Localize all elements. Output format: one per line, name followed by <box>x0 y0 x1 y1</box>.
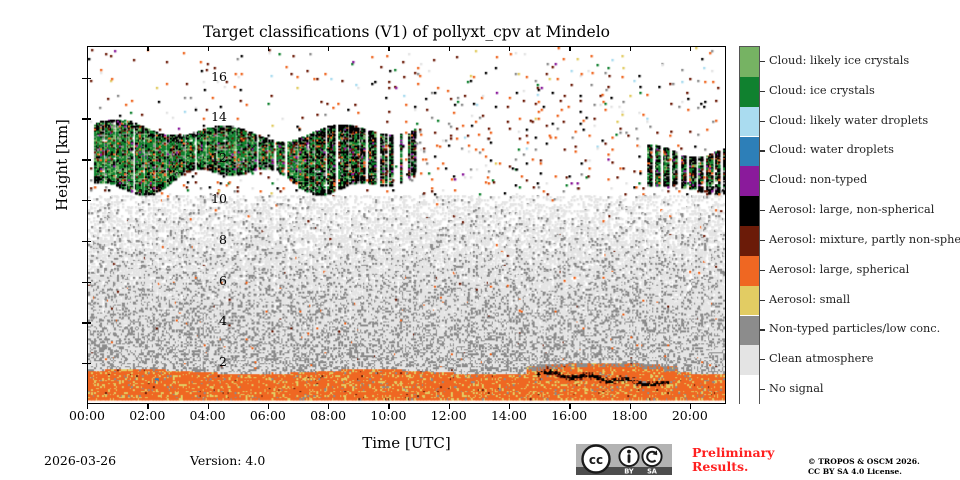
y-tick-label: 2 <box>187 354 227 369</box>
x-tick-label: 06:00 <box>242 408 294 423</box>
y-tick-mark-inner <box>87 200 91 201</box>
x-tick-mark <box>509 404 510 409</box>
x-tick-mark-top <box>87 46 88 51</box>
colorbar-tick <box>760 91 765 92</box>
legend-label: Aerosol: small <box>769 293 850 306</box>
x-tick-label: 14:00 <box>483 408 535 423</box>
preliminary-line-2: Results. <box>692 460 774 474</box>
legend-label: Non-typed particles/low conc. <box>769 322 940 335</box>
cc-license-badge[interactable]: cc BY SA <box>576 444 672 475</box>
x-tick-label: 12:00 <box>423 408 475 423</box>
colorbar-swatch <box>740 47 759 77</box>
x-tick-label: 10:00 <box>362 408 414 423</box>
x-tick-mark <box>630 404 631 409</box>
y-tick-mark-inner <box>87 322 91 323</box>
colorbar-swatch <box>740 256 759 286</box>
preliminary-line-1: Preliminary <box>692 446 774 460</box>
svg-text:cc: cc <box>589 453 603 467</box>
x-tick-mark-top <box>388 46 389 51</box>
x-tick-mark-top <box>208 46 209 51</box>
cc-by-text: BY <box>624 468 634 475</box>
x-tick-label: 04:00 <box>182 408 234 423</box>
footer-version: Version: 4.0 <box>190 453 265 468</box>
colorbar-tick <box>760 359 765 360</box>
x-tick-mark-top <box>449 46 450 51</box>
x-tick-mark-top <box>630 46 631 51</box>
preliminary-results-notice: Preliminary Results. <box>692 446 774 474</box>
page-title: Target classifications (V1) of pollyxt_c… <box>87 23 726 41</box>
y-tick-mark-inner <box>87 363 91 364</box>
colorbar-tick <box>760 61 765 62</box>
y-tick-mark-inner <box>87 78 91 79</box>
colorbar-swatch <box>740 286 759 316</box>
x-tick-mark <box>268 404 269 409</box>
colorbar-tick <box>760 240 765 241</box>
y-tick-mark-inner <box>87 159 91 160</box>
cc-sa-text: SA <box>647 468 658 475</box>
copyright-notice: © TROPOS & OSCM 2026. CC BY SA 4.0 Licen… <box>808 457 920 477</box>
y-tick-label: 12 <box>187 150 227 165</box>
footer-date: 2026-03-26 <box>44 453 116 468</box>
legend-label: Cloud: water droplets <box>769 143 894 156</box>
x-tick-mark-top <box>569 46 570 51</box>
x-tick-mark <box>328 404 329 409</box>
y-tick-label: 4 <box>187 313 227 328</box>
legend-label: Cloud: likely water droplets <box>769 114 928 127</box>
legend-label: Clean atmosphere <box>769 352 873 365</box>
colorbar-tick <box>760 150 765 151</box>
x-tick-mark <box>569 404 570 409</box>
legend-label: Aerosol: large, non-spherical <box>769 203 934 216</box>
x-tick-mark <box>690 404 691 409</box>
x-tick-mark <box>208 404 209 409</box>
y-tick-label: 8 <box>187 232 227 247</box>
y-tick-label: 10 <box>187 191 227 206</box>
x-tick-label: 02:00 <box>121 408 173 423</box>
colorbar-tick <box>760 270 765 271</box>
x-tick-mark-top <box>147 46 148 51</box>
colorbar-swatch <box>740 316 759 346</box>
copyright-line-2: CC BY SA 4.0 License. <box>808 467 920 477</box>
x-tick-label: 20:00 <box>664 408 716 423</box>
colorbar-swatch <box>740 137 759 167</box>
y-tick-mark-inner <box>87 241 91 242</box>
x-tick-mark <box>388 404 389 409</box>
y-tick-mark-inner <box>87 118 91 119</box>
x-tick-label: 16:00 <box>543 408 595 423</box>
legend-label: No signal <box>769 382 824 395</box>
colorbar-tick <box>760 389 765 390</box>
x-tick-mark <box>147 404 148 409</box>
x-tick-mark-top <box>268 46 269 51</box>
x-tick-label: 18:00 <box>604 408 656 423</box>
classification-heatmap <box>88 47 725 403</box>
colorbar-tick <box>760 300 765 301</box>
colorbar-swatch <box>740 166 759 196</box>
x-tick-mark-top <box>690 46 691 51</box>
copyright-line-1: © TROPOS & OSCM 2026. <box>808 457 920 467</box>
colorbar-swatch <box>740 226 759 256</box>
colorbar-tick <box>760 210 765 211</box>
colorbar-swatch <box>740 196 759 226</box>
y-tick-mark-inner <box>87 282 91 283</box>
figure-root: Target classifications (V1) of pollyxt_c… <box>0 0 960 480</box>
x-tick-mark <box>87 404 88 409</box>
y-axis-label: Height [km] <box>53 70 71 260</box>
colorbar-tick <box>760 121 765 122</box>
colorbar-tick <box>760 329 765 330</box>
colorbar-swatch <box>740 345 759 375</box>
legend-label: Cloud: ice crystals <box>769 84 875 97</box>
colorbar-tick <box>760 180 765 181</box>
x-tick-label: 00:00 <box>61 408 113 423</box>
legend-label: Aerosol: large, spherical <box>769 263 909 276</box>
y-tick-label: 6 <box>187 273 227 288</box>
colorbar-swatch <box>740 107 759 137</box>
y-tick-label: 16 <box>187 69 227 84</box>
legend-label: Cloud: non-typed <box>769 173 867 186</box>
colorbar-swatch <box>740 77 759 107</box>
colorbar <box>739 46 760 404</box>
y-tick-label: 14 <box>187 109 227 124</box>
legend-label: Aerosol: mixture, partly non-spherical <box>769 233 960 246</box>
x-tick-mark-top <box>509 46 510 51</box>
x-tick-label: 08:00 <box>302 408 354 423</box>
plot-area <box>87 46 726 404</box>
legend-label: Cloud: likely ice crystals <box>769 54 909 67</box>
colorbar-swatch <box>740 375 759 405</box>
x-tick-mark-top <box>328 46 329 51</box>
x-tick-mark <box>449 404 450 409</box>
